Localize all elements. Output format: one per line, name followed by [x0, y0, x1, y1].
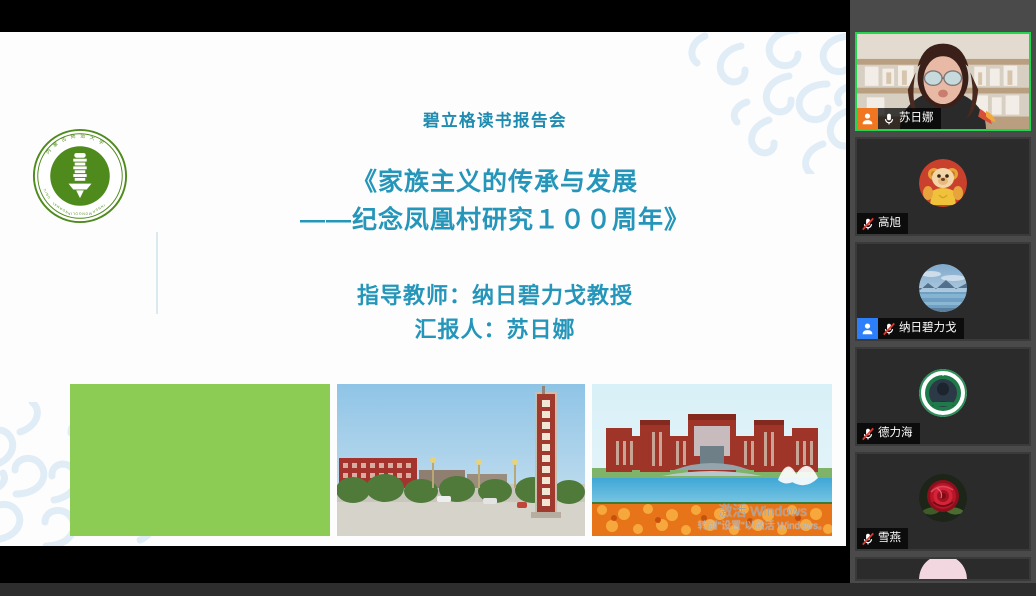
participant-name-label: 雪燕: [857, 528, 908, 549]
microphone-muted-icon: [882, 322, 896, 336]
slide-text-block: 碧立格读书报告会 《家族主义的传承与发展 ——纪念凤凰村研究１００周年》 指导教…: [150, 110, 840, 347]
host-badge-icon: [857, 108, 878, 129]
university-seal-logo: 内 蒙 古 师 范 大 学 I N N E R M O N G O L I A …: [32, 128, 128, 224]
participant-name-label: 苏日娜: [878, 108, 941, 129]
windows-activation-watermark: 激活 Windows 转到"设置"以激活 Windows。: [698, 502, 828, 534]
microphone-muted-icon: [861, 217, 875, 231]
participant-name-text: 纳日碧力戈: [899, 318, 957, 339]
cartoon-bear-avatar: [919, 159, 967, 207]
slide-title-line-1: 《家族主义的传承与发展: [150, 163, 840, 201]
co-host-badge-icon: [857, 318, 878, 339]
filmstrip-top-spacer: [855, 0, 1031, 32]
video-conference-window: 内 蒙 古 师 范 大 学 I N N E R M O N G O L I A …: [0, 0, 1036, 596]
participant-name-label: 纳日碧力戈: [878, 318, 964, 339]
svg-text:M O N G O L I A: M O N G O L I A: [67, 211, 91, 215]
participant-name-text: 德力海: [878, 423, 913, 444]
participant-badges: 纳日碧力戈: [857, 318, 964, 339]
meeting-toolbar-strip[interactable]: [0, 583, 1036, 596]
green-placeholder-block: [70, 384, 330, 536]
slide-kicker: 碧立格读书报告会: [150, 110, 840, 133]
slide-advisor-line: 指导教师：纳日碧力戈教授: [150, 279, 840, 313]
lake-landscape-avatar: [919, 264, 967, 312]
participant-badges: 雪燕: [857, 528, 908, 549]
participant-tile-host[interactable]: 苏日娜: [855, 32, 1031, 131]
participant-tile[interactable]: 纳日碧力戈: [855, 242, 1031, 341]
participant-tile[interactable]: 雪燕: [855, 452, 1031, 551]
shared-screen-region[interactable]: 内 蒙 古 师 范 大 学 I N N E R M O N G O L I A …: [0, 0, 850, 596]
partial-avatar: [919, 557, 967, 581]
microphone-muted-icon: [861, 427, 875, 441]
participant-name-text: 苏日娜: [899, 108, 934, 129]
presentation-slide[interactable]: 内 蒙 古 师 范 大 学 I N N E R M O N G O L I A …: [0, 32, 846, 546]
participant-name-label: 高旭: [857, 213, 908, 234]
slide-presenter-line: 汇报人：苏日娜: [150, 313, 840, 347]
participant-name-text: 高旭: [878, 213, 901, 234]
participant-badges: 高旭: [857, 213, 908, 234]
participants-filmstrip[interactable]: 苏日娜: [850, 0, 1036, 583]
participant-tile[interactable]: ★ 德力海: [855, 347, 1031, 446]
microphone-icon: [882, 112, 896, 126]
university-emblem-avatar: ★: [919, 369, 967, 417]
participant-badges: 德力海: [857, 423, 920, 444]
participant-badges: 苏日娜: [857, 108, 941, 129]
participant-tile[interactable]: 高旭: [855, 137, 1031, 236]
microphone-muted-icon: [861, 532, 875, 546]
participant-tile-partial[interactable]: [855, 557, 1031, 581]
watermark-title: 激活 Windows: [698, 502, 828, 520]
svg-text:★: ★: [941, 372, 945, 377]
participant-name-label: 德力海: [857, 423, 920, 444]
watermark-subtitle: 转到"设置"以激活 Windows。: [698, 520, 828, 534]
campus-monument-photo: [337, 384, 585, 536]
svg-text:范: 范: [80, 133, 85, 140]
slide-title-line-2: ——纪念凤凰村研究１００周年》: [150, 201, 840, 239]
participant-name-text: 雪燕: [878, 528, 901, 549]
red-rose-avatar: [919, 474, 967, 522]
